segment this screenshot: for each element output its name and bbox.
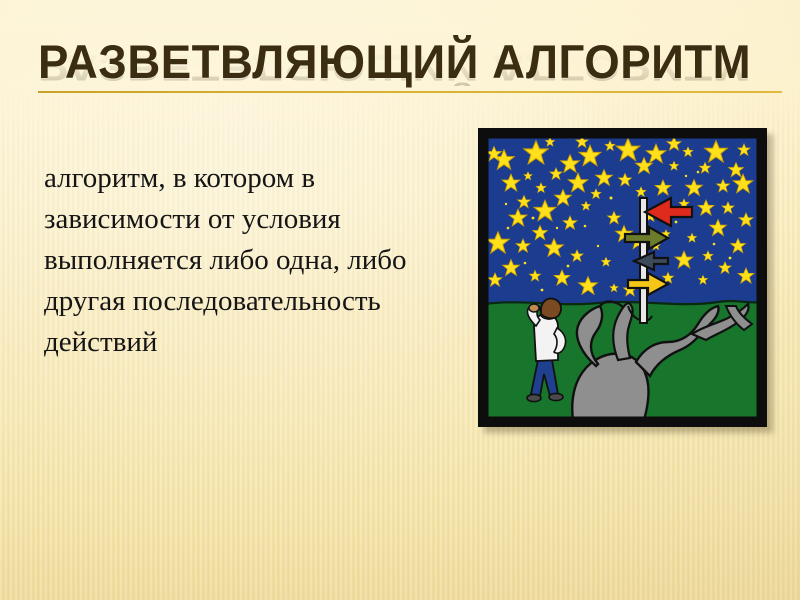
illustration-frame	[478, 128, 767, 427]
crossroads-illustration	[478, 128, 767, 427]
title-underline-rule	[38, 91, 782, 93]
slide: РАЗВЕТВЛЯЮЩИЙ АЛГОРИТМ РАЗВЕТВЛЯЮЩИЙ АЛГ…	[0, 0, 800, 600]
person-hand	[529, 304, 539, 312]
page-title: РАЗВЕТВЛЯЮЩИЙ АЛГОРИТМ	[38, 38, 751, 86]
title-block: РАЗВЕТВЛЯЮЩИЙ АЛГОРИТМ РАЗВЕТВЛЯЮЩИЙ АЛГ…	[38, 38, 778, 118]
person-shoe-right	[549, 393, 563, 400]
body-paragraph: алгоритм, в котором в зависимости от усл…	[44, 158, 444, 363]
illustration-container	[478, 128, 773, 433]
person-shoe-left	[527, 394, 541, 401]
scene	[485, 135, 760, 420]
person-hair	[541, 299, 561, 319]
